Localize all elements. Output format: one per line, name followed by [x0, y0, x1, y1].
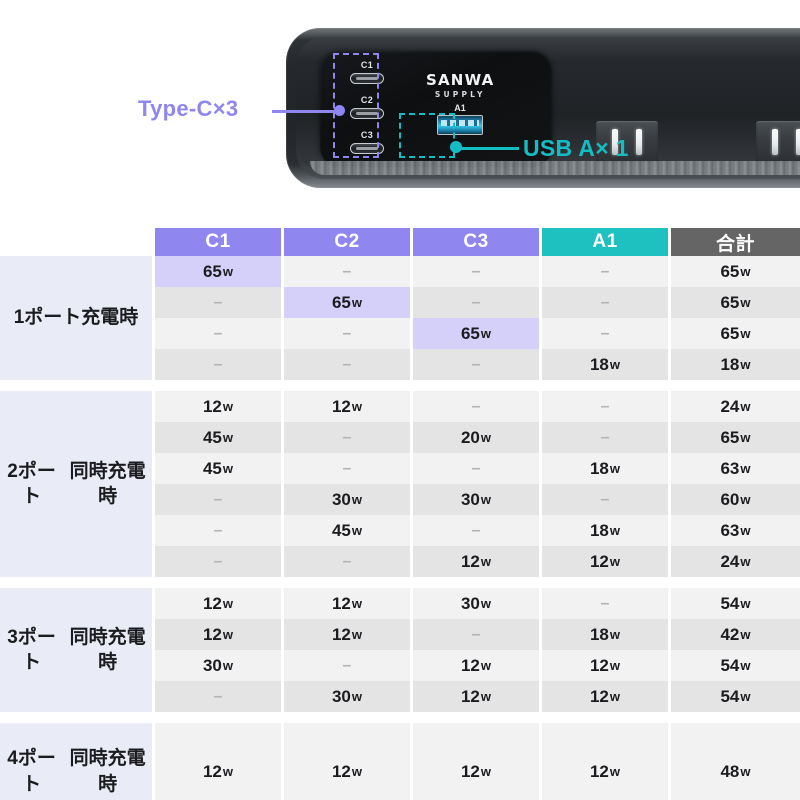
empty-value: – [343, 460, 352, 478]
watt-unit: w [740, 554, 750, 569]
cell-c2: 12w [284, 588, 413, 619]
watt-unit: w [352, 689, 362, 704]
table-row: 30w–12w12w54w [155, 650, 800, 681]
empty-value: – [214, 522, 223, 540]
cell-c3: 20w [413, 422, 542, 453]
cell-total: 63w [671, 515, 800, 546]
cell-total: 24w [671, 546, 800, 577]
watt-unit: w [223, 764, 233, 779]
cell-c1: – [155, 546, 284, 577]
empty-value: – [601, 294, 610, 312]
table-row: ––65w–65w [155, 318, 800, 349]
empty-value: – [214, 294, 223, 312]
header-c3: C3 [413, 228, 542, 256]
table-section: 4ポート同時充電時12w12w12w12w48w [0, 723, 800, 800]
cell-c3: – [413, 515, 542, 546]
brand-name: SANWA [426, 73, 494, 88]
table-row: 45w–20w–65w [155, 422, 800, 453]
watt-unit: w [223, 264, 233, 279]
empty-value: – [472, 522, 481, 540]
cell-c2: 12w [284, 619, 413, 650]
watt-unit: w [740, 689, 750, 704]
device-bottom-edge [310, 161, 800, 175]
cell-a1: – [542, 256, 671, 287]
watt-unit: w [740, 596, 750, 611]
cell-c1: 30w [155, 650, 284, 681]
header-c2: C2 [284, 228, 413, 256]
cell-c1: 65w [155, 256, 284, 287]
watt-unit: w [610, 627, 620, 642]
cell-a1: 18w [542, 349, 671, 380]
table-row: –––18w18w [155, 349, 800, 380]
empty-value: – [601, 595, 610, 613]
cell-total: 54w [671, 588, 800, 619]
section-divider [0, 380, 800, 391]
section-rows: 12w12w––24w45w–20w–65w45w––18w63w–30w30w… [155, 391, 800, 577]
section-divider [0, 577, 800, 588]
cell-c1: – [155, 681, 284, 712]
section-rows: 12w12w30w–54w12w12w–18w42w30w–12w12w54w–… [155, 588, 800, 712]
cell-c1: – [155, 287, 284, 318]
table-row: 45w––18w63w [155, 453, 800, 484]
section-label-line: 同時充電時 [63, 459, 152, 509]
cell-c2: – [284, 256, 413, 287]
cell-c3: – [413, 256, 542, 287]
section-label-line: 1ポート [14, 305, 82, 330]
cell-c3: 30w [413, 484, 542, 515]
header-c1: C1 [155, 228, 284, 256]
watt-unit: w [481, 430, 491, 445]
ac-outlet [756, 121, 800, 163]
table-row: –30w12w12w54w [155, 681, 800, 712]
table-row: ––12w12w24w [155, 546, 800, 577]
cell-c2: 30w [284, 484, 413, 515]
cell-c2: 45w [284, 515, 413, 546]
watt-unit: w [223, 399, 233, 414]
watt-unit: w [740, 658, 750, 673]
table-header-row: C1 C2 C3 A1 合計 [0, 228, 800, 256]
cell-c1: – [155, 515, 284, 546]
cell-c3: 65w [413, 318, 542, 349]
cell-c2: – [284, 422, 413, 453]
cell-c3: 12w [413, 681, 542, 712]
empty-value: – [601, 491, 610, 509]
cell-total: 63w [671, 453, 800, 484]
section-divider [0, 712, 800, 723]
watt-unit: w [481, 492, 491, 507]
section-label: 4ポート同時充電時 [0, 723, 155, 800]
section-rows: 12w12w12w12w48w [155, 723, 800, 800]
cell-c2: – [284, 650, 413, 681]
cell-c3: – [413, 453, 542, 484]
empty-value: – [472, 460, 481, 478]
watt-unit: w [610, 461, 620, 476]
empty-value: – [601, 398, 610, 416]
table-row: 12w12w––24w [155, 391, 800, 422]
watt-unit: w [223, 430, 233, 445]
usb-a-highlight-box [399, 113, 455, 158]
cell-a1: 18w [542, 515, 671, 546]
table-section: 3ポート同時充電時12w12w30w–54w12w12w–18w42w30w–1… [0, 588, 800, 712]
cell-c2: – [284, 546, 413, 577]
table-row: 12w12w30w–54w [155, 588, 800, 619]
watt-unit: w [740, 399, 750, 414]
table-row: 12w12w12w12w48w [155, 723, 800, 800]
watt-unit: w [740, 627, 750, 642]
watt-unit: w [610, 523, 620, 538]
empty-value: – [472, 626, 481, 644]
cell-a1: – [542, 391, 671, 422]
empty-value: – [472, 263, 481, 281]
type-c-leader-line [272, 110, 340, 113]
empty-value: – [214, 491, 223, 509]
watt-unit: w [352, 523, 362, 538]
watt-unit: w [481, 658, 491, 673]
empty-value: – [343, 263, 352, 281]
cell-total: 54w [671, 681, 800, 712]
watt-unit: w [740, 764, 750, 779]
cell-a1: 12w [542, 650, 671, 681]
cell-a1: 18w [542, 453, 671, 484]
cell-c1: 12w [155, 391, 284, 422]
brand-logo: SANWA SUPPLY [426, 73, 494, 98]
cell-c2: 12w [284, 391, 413, 422]
empty-value: – [601, 263, 610, 281]
cell-a1: 18w [542, 619, 671, 650]
empty-value: – [214, 325, 223, 343]
cell-c2: 12w [284, 723, 413, 800]
cell-c3: – [413, 349, 542, 380]
empty-value: – [343, 325, 352, 343]
cell-total: 24w [671, 391, 800, 422]
watt-unit: w [610, 689, 620, 704]
cell-total: 54w [671, 650, 800, 681]
empty-value: – [343, 657, 352, 675]
cell-c3: 12w [413, 650, 542, 681]
cell-c2: 65w [284, 287, 413, 318]
table-row: –30w30w–60w [155, 484, 800, 515]
product-photo: C1 C2 C3 A1 [0, 0, 800, 212]
watt-unit: w [223, 627, 233, 642]
power-distribution-table: C1 C2 C3 A1 合計 1ポート充電時65w–––65w–65w––65w… [0, 228, 800, 800]
outlet-pin-icon [796, 129, 800, 155]
cell-c1: – [155, 349, 284, 380]
page-root: C1 C2 C3 A1 [0, 0, 800, 800]
header-blank [0, 228, 155, 256]
empty-value: – [343, 356, 352, 374]
section-label: 2ポート同時充電時 [0, 391, 155, 577]
header-a1: A1 [542, 228, 671, 256]
cell-a1: – [542, 318, 671, 349]
watt-unit: w [610, 658, 620, 673]
cell-c2: – [284, 318, 413, 349]
table-section: 2ポート同時充電時12w12w––24w45w–20w–65w45w––18w6… [0, 391, 800, 577]
watt-unit: w [481, 554, 491, 569]
cell-c1: – [155, 484, 284, 515]
watt-unit: w [610, 357, 620, 372]
cell-c1: 12w [155, 588, 284, 619]
outlet-pin-icon [636, 129, 642, 155]
cell-total: 65w [671, 318, 800, 349]
cell-c3: – [413, 619, 542, 650]
section-label-line: 3ポート [0, 625, 63, 675]
table-row: 12w12w–18w42w [155, 619, 800, 650]
port-a1-label: A1 [454, 103, 466, 113]
empty-value: – [601, 429, 610, 447]
brand-tagline: SUPPLY [426, 91, 494, 99]
empty-value: – [472, 398, 481, 416]
section-label: 1ポート充電時 [0, 256, 155, 380]
empty-value: – [343, 553, 352, 571]
watt-unit: w [223, 461, 233, 476]
watt-unit: w [352, 295, 362, 310]
cell-c3: 12w [413, 723, 542, 800]
empty-value: – [214, 356, 223, 374]
cell-c3: 30w [413, 588, 542, 619]
usb-a-callout-label: USB A× 1 [523, 135, 629, 162]
cell-a1: 12w [542, 546, 671, 577]
section-label-line: 同時充電時 [63, 625, 152, 675]
cell-total: 65w [671, 256, 800, 287]
watt-unit: w [740, 357, 750, 372]
header-total: 合計 [671, 228, 800, 256]
cell-a1: – [542, 422, 671, 453]
cell-a1: – [542, 484, 671, 515]
watt-unit: w [352, 399, 362, 414]
watt-unit: w [223, 658, 233, 673]
cell-total: 18w [671, 349, 800, 380]
watt-unit: w [481, 596, 491, 611]
table-row: 65w–––65w [155, 256, 800, 287]
cell-total: 65w [671, 422, 800, 453]
watt-unit: w [740, 461, 750, 476]
cell-a1: – [542, 287, 671, 318]
empty-value: – [472, 294, 481, 312]
watt-unit: w [481, 764, 491, 779]
cell-c2: 30w [284, 681, 413, 712]
cell-c1: 45w [155, 453, 284, 484]
cell-c3: 12w [413, 546, 542, 577]
usb-a-leader-line [457, 147, 519, 150]
watt-unit: w [481, 689, 491, 704]
table-section: 1ポート充電時65w–––65w–65w––65w––65w–65w–––18w… [0, 256, 800, 380]
section-label: 3ポート同時充電時 [0, 588, 155, 712]
table-sections: 1ポート充電時65w–––65w–65w––65w––65w–65w–––18w… [0, 256, 800, 800]
cell-c2: – [284, 453, 413, 484]
cell-c1: 12w [155, 723, 284, 800]
table-row: –65w––65w [155, 287, 800, 318]
cell-c1: – [155, 318, 284, 349]
table-row: –45w–18w63w [155, 515, 800, 546]
section-label-line: 同時充電時 [63, 746, 152, 796]
watt-unit: w [740, 492, 750, 507]
watt-unit: w [740, 430, 750, 445]
cell-c2: – [284, 349, 413, 380]
empty-value: – [472, 356, 481, 374]
cell-total: 48w [671, 723, 800, 800]
watt-unit: w [740, 295, 750, 310]
section-rows: 65w–––65w–65w––65w––65w–65w–––18w18w [155, 256, 800, 380]
cell-total: 42w [671, 619, 800, 650]
watt-unit: w [352, 764, 362, 779]
type-c-callout-label: Type-C×3 [138, 96, 238, 122]
watt-unit: w [352, 596, 362, 611]
cell-c1: 12w [155, 619, 284, 650]
cell-a1: 12w [542, 681, 671, 712]
cell-a1: 12w [542, 723, 671, 800]
type-c-leader-dot [334, 105, 345, 116]
empty-value: – [214, 688, 223, 706]
watt-unit: w [481, 326, 491, 341]
cell-total: 60w [671, 484, 800, 515]
cell-c1: 45w [155, 422, 284, 453]
watt-unit: w [740, 326, 750, 341]
outlet-pin-icon [772, 129, 778, 155]
watt-unit: w [223, 596, 233, 611]
watt-unit: w [352, 492, 362, 507]
section-label-line: 2ポート [0, 459, 63, 509]
cell-c3: – [413, 391, 542, 422]
section-label-line: 充電時 [81, 305, 138, 330]
cell-c3: – [413, 287, 542, 318]
section-label-line: 4ポート [0, 746, 63, 796]
usb-a-leader-dot [450, 141, 462, 153]
watt-unit: w [352, 627, 362, 642]
empty-value: – [343, 429, 352, 447]
watt-unit: w [740, 523, 750, 538]
watt-unit: w [740, 264, 750, 279]
watt-unit: w [610, 554, 620, 569]
cell-total: 65w [671, 287, 800, 318]
cell-a1: – [542, 588, 671, 619]
empty-value: – [214, 553, 223, 571]
empty-value: – [601, 325, 610, 343]
watt-unit: w [610, 764, 620, 779]
